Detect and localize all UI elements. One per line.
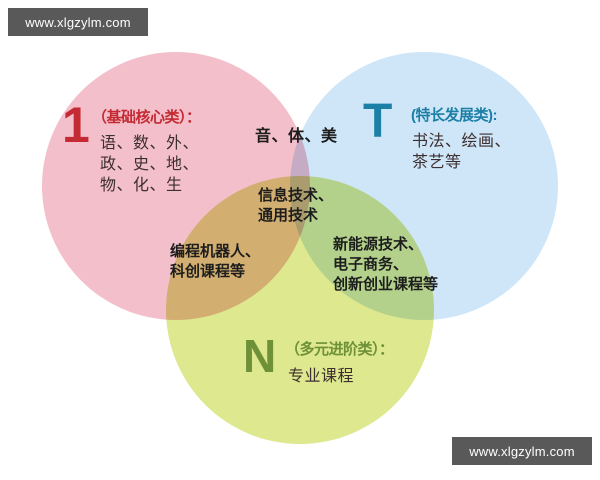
- diagram-canvas: 1 （基础核心类）： 语、数、外、 政、史、地、 物、化、生 T (特长发展类)…: [0, 0, 600, 480]
- watermark-top: www.xlgzylm.com: [8, 8, 148, 36]
- intersection-all-three-label: 信息技术、 通用技术: [258, 186, 333, 226]
- intersection-talent-advanced-label: 新能源技术、 电子商务、 创新创业课程等: [333, 235, 438, 294]
- group-core-heading: （基础核心类）：: [92, 108, 201, 128]
- intersection-core-advanced-label: 编程机器人、 科创课程等: [170, 242, 260, 282]
- group-talent-glyph: T: [363, 98, 392, 146]
- group-advanced-heading: （多元进阶类）：: [285, 340, 394, 360]
- watermark-bottom: www.xlgzylm.com: [452, 437, 592, 465]
- group-core-glyph: 1: [62, 100, 90, 150]
- venn-diagram: [0, 0, 600, 480]
- group-advanced-glyph: N: [243, 333, 276, 379]
- group-talent-items: 书法、绘画、 茶艺等: [412, 131, 511, 173]
- group-talent-heading: (特长发展类):: [411, 106, 497, 126]
- group-core-items: 语、数、外、 政、史、地、 物、化、生: [100, 133, 199, 196]
- intersection-core-talent-label: 音、体、美: [255, 126, 338, 147]
- group-advanced-items: 专业课程: [288, 366, 354, 387]
